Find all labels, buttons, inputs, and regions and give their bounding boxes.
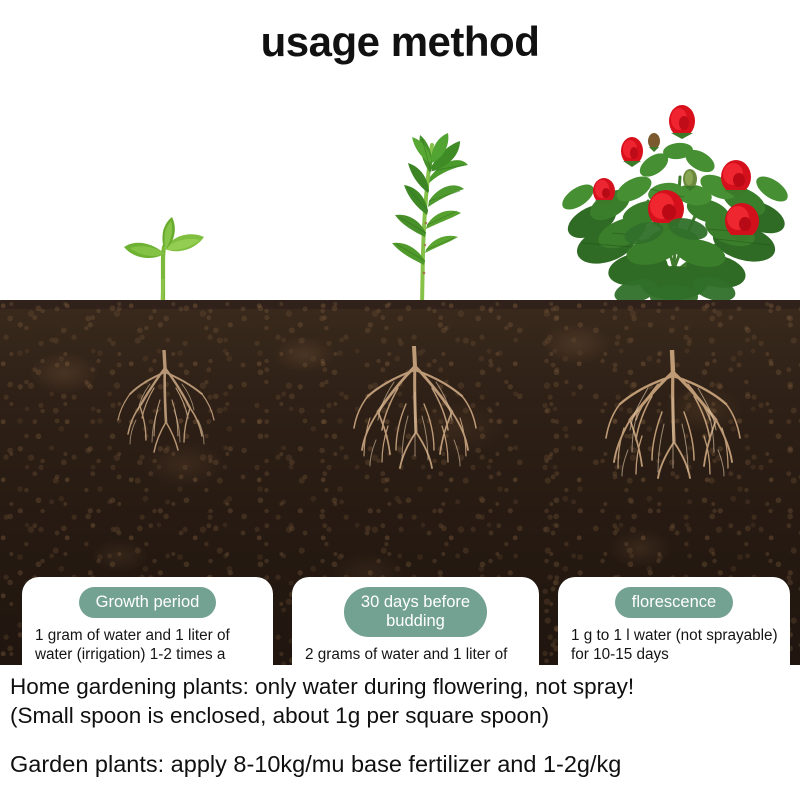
seedling-icon xyxy=(108,213,218,305)
garden-plants-note: Garden plants: apply 8-10kg/mu base fert… xyxy=(10,749,800,779)
root-system-young-plant xyxy=(348,346,483,471)
usage-method-infographic: usage method xyxy=(0,0,800,800)
home-gardening-line-1: Home gardening plants: only water during… xyxy=(10,672,800,701)
root-system-seedling xyxy=(110,350,225,455)
instruction-cards: Growth period 1 gram of water and 1 lite… xyxy=(0,577,800,665)
card-body-florescence: 1 g to 1 l water (not sprayable) for 10-… xyxy=(568,627,780,664)
card-growth-period[interactable]: Growth period 1 gram of water and 1 lite… xyxy=(22,577,273,665)
growth-stage-scene: Growth period 1 gram of water and 1 lite… xyxy=(0,85,800,665)
card-body-growth-period: 1 gram of water and 1 liter of water (ir… xyxy=(32,627,263,665)
footer-notes: Home gardening plants: only water during… xyxy=(10,672,800,779)
young-plant-icon xyxy=(368,133,488,305)
rose-bush-icon xyxy=(548,93,800,325)
badge-florescence: florescence xyxy=(615,587,733,618)
card-budding[interactable]: 30 days before budding 2 grams of water … xyxy=(292,577,539,665)
card-florescence[interactable]: florescence 1 g to 1 l water (not spraya… xyxy=(558,577,790,665)
page-title: usage method xyxy=(0,18,800,66)
home-gardening-line-2: (Small spoon is enclosed, about 1g per s… xyxy=(10,701,800,730)
root-system-rose-bush xyxy=(598,350,748,480)
badge-budding: 30 days before budding xyxy=(344,587,487,637)
soil-cross-section: Growth period 1 gram of water and 1 lite… xyxy=(0,300,800,665)
garden-plants-line-1: Garden plants: apply 8-10kg/mu base fert… xyxy=(10,749,800,779)
card-body-budding: 2 grams of water and 1 liter of water (w… xyxy=(302,646,529,665)
badge-growth-period: Growth period xyxy=(79,587,217,618)
home-gardening-note: Home gardening plants: only water during… xyxy=(10,672,800,730)
